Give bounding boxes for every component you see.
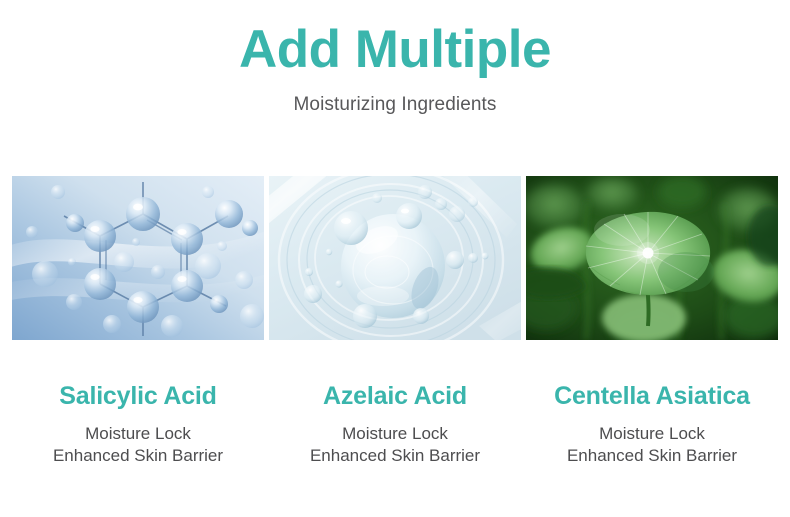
benefit-line-2: Enhanced Skin Barrier [269, 445, 521, 467]
ingredient-name: Salicylic Acid [12, 383, 264, 411]
molecule-illustration [12, 176, 264, 340]
benefit-line-1: Moisture Lock [269, 423, 521, 445]
ingredient-caption-row: Salicylic Acid Moisture Lock Enhanced Sk… [12, 383, 778, 467]
ingredient-benefits: Moisture Lock Enhanced Skin Barrier [12, 423, 264, 468]
benefit-line-1: Moisture Lock [12, 423, 264, 445]
centella-leaf-illustration [526, 176, 778, 340]
ingredient-infographic: Add Multiple Moisturizing Ingredients [0, 0, 790, 517]
ingredient-image-centella-asiatica [526, 176, 778, 340]
ingredient-caption-azelaic-acid: Azelaic Acid Moisture Lock Enhanced Skin… [269, 383, 521, 467]
ingredient-caption-centella-asiatica: Centella Asiatica Moisture Lock Enhanced… [526, 383, 778, 467]
ingredient-benefits: Moisture Lock Enhanced Skin Barrier [526, 423, 778, 468]
benefit-line-1: Moisture Lock [526, 423, 778, 445]
ingredient-image-salicylic-acid [12, 176, 264, 340]
ingredient-name: Centella Asiatica [526, 383, 778, 411]
page-subtitle: Moisturizing Ingredients [0, 94, 790, 116]
ingredient-image-azelaic-acid [269, 176, 521, 340]
ingredient-caption-salicylic-acid: Salicylic Acid Moisture Lock Enhanced Sk… [12, 383, 264, 467]
ingredient-name: Azelaic Acid [269, 383, 521, 411]
header: Add Multiple Moisturizing Ingredients [0, 22, 790, 116]
benefit-line-2: Enhanced Skin Barrier [526, 445, 778, 467]
serum-droplet-illustration [269, 176, 521, 340]
benefit-line-2: Enhanced Skin Barrier [12, 445, 264, 467]
ingredient-image-row [12, 176, 778, 340]
page-title: Add Multiple [0, 22, 790, 78]
ingredient-benefits: Moisture Lock Enhanced Skin Barrier [269, 423, 521, 468]
